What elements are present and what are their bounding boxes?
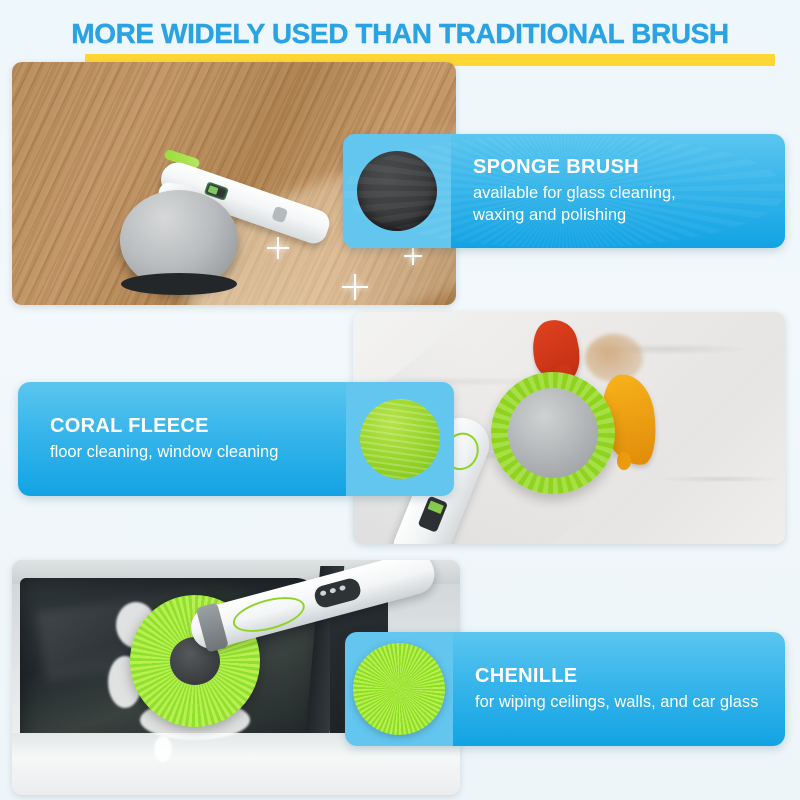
callout-text-pane: CHENILLE for wiping ceilings, walls, and… (453, 632, 785, 746)
swatch-pane (346, 382, 454, 496)
swatch-pane (343, 134, 451, 248)
tan-stain (585, 334, 643, 382)
sponge-swatch-icon (357, 151, 437, 231)
display-screen-icon (313, 576, 363, 609)
page-title: MORE WIDELY USED THAN TRADITIONAL BRUSH (0, 18, 800, 62)
callout-text-pane: CORAL FLEECE floor cleaning, window clea… (18, 382, 346, 496)
swatch-pane (345, 632, 453, 746)
callout-title: CHENILLE (475, 665, 785, 688)
coral-fleece-swatch-icon (360, 399, 440, 479)
callout-description: for wiping ceilings, walls, and car glas… (475, 692, 785, 713)
display-screen-icon (418, 496, 449, 533)
soap-suds (154, 736, 172, 762)
callout-card-coral-fleece: CORAL FLEECE floor cleaning, window clea… (18, 382, 454, 496)
page-title-text: MORE WIDELY USED THAN TRADITIONAL BRUSH (0, 18, 800, 50)
infographic-canvas: MORE WIDELY USED THAN TRADITIONAL BRUSH (0, 0, 800, 800)
orange-sauce-drop (617, 452, 631, 470)
pole-clamp (196, 603, 229, 653)
power-button-icon (271, 206, 288, 223)
callout-description: floor cleaning, window cleaning (50, 442, 346, 463)
callout-card-chenille: CHENILLE for wiping ceilings, walls, and… (345, 632, 785, 746)
coral-fleece-pad-head (491, 372, 615, 494)
sponge-pad-head (120, 190, 238, 290)
callout-card-sponge-brush: SPONGE BRUSH available for glass cleanin… (343, 134, 785, 248)
callout-title: CORAL FLEECE (50, 415, 346, 438)
chenille-swatch-icon (353, 643, 445, 735)
